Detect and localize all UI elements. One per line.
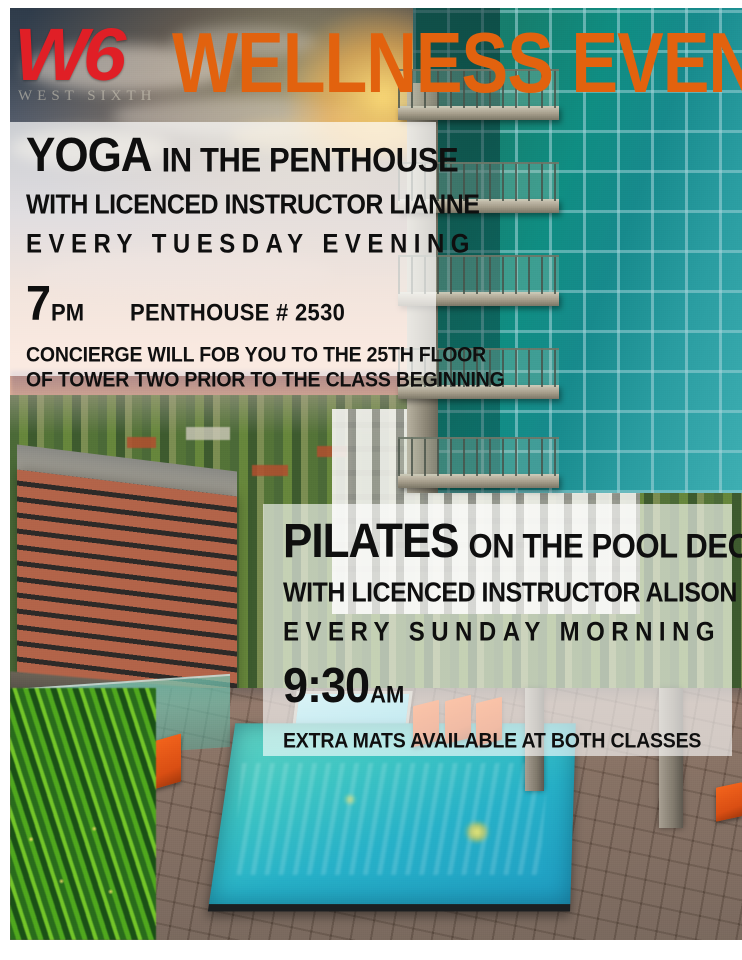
event-yoga-title: YOGA <box>26 132 152 180</box>
pool-water-shimmer <box>232 763 549 875</box>
event-yoga-time-row: 7 PM PENTHOUSE # 2530 <box>26 280 505 332</box>
event-pilates-note-line-1: EXTRA MATS AVAILABLE AT BOTH CLASSES <box>283 728 742 755</box>
event-yoga-location: PENTHOUSE # 2530 <box>130 298 345 327</box>
event-pilates-title: PILATES <box>283 518 459 566</box>
event-yoga-note-line-2: OF TOWER TWO PRIOR TO THE CLASS BEGINNIN… <box>26 367 505 394</box>
balcony-railing <box>398 437 559 476</box>
event-panel-yoga: YOGA IN THE PENTHOUSE WITH LICENCED INST… <box>8 122 436 376</box>
lounge-chair <box>716 783 742 822</box>
event-yoga-content: YOGA IN THE PENTHOUSE WITH LICENCED INST… <box>26 136 505 392</box>
event-panel-pilates: PILATES ON THE POOL DECK WITH LICENCED I… <box>263 504 732 756</box>
event-yoga-instructor: WITH LICENCED INSTRUCTOR LIANNE <box>26 189 505 221</box>
event-pilates-instructor: WITH LICENCED INSTRUCTOR ALISON <box>283 577 742 609</box>
event-yoga-subtitle: IN THE PENTHOUSE <box>162 142 459 177</box>
event-yoga-time-meridiem: PM <box>51 298 84 327</box>
event-pilates-time-meridiem: AM <box>370 680 404 709</box>
pool-light <box>464 822 490 842</box>
event-pilates-time-row: 9:30 AM <box>283 662 742 714</box>
event-yoga-headline: YOGA IN THE PENTHOUSE <box>26 136 505 180</box>
event-pilates-content: PILATES ON THE POOL DECK WITH LICENCED I… <box>283 522 742 753</box>
rooftop <box>186 427 230 439</box>
event-yoga-schedule: EVERY TUESDAY EVENING <box>26 229 505 260</box>
poster-title: WELLNESS EVENTS <box>172 20 732 105</box>
rooftop <box>252 465 289 476</box>
event-yoga-time: 7 <box>26 275 50 332</box>
rooftop <box>127 437 156 448</box>
event-yoga-note-line-1: CONCIERGE WILL FOB YOU TO THE 25TH FLOOR <box>26 342 505 369</box>
event-pilates-schedule: EVERY SUNDAY MORNING <box>283 617 742 648</box>
poster: W6 WEST SIXTH WELLNESS EVENTS YOGA IN TH… <box>0 0 742 960</box>
brand-logo: W6 WEST SIXTH <box>14 18 154 118</box>
garden-lights <box>17 800 134 930</box>
event-pilates-time: 9:30 <box>283 657 369 714</box>
tower-balcony <box>398 474 559 488</box>
event-pilates-headline: PILATES ON THE POOL DECK <box>283 522 742 566</box>
pool-light <box>343 794 357 805</box>
event-pilates-subtitle: ON THE POOL DECK <box>469 528 742 563</box>
logo-wordmark-w6: W6 <box>14 18 162 92</box>
